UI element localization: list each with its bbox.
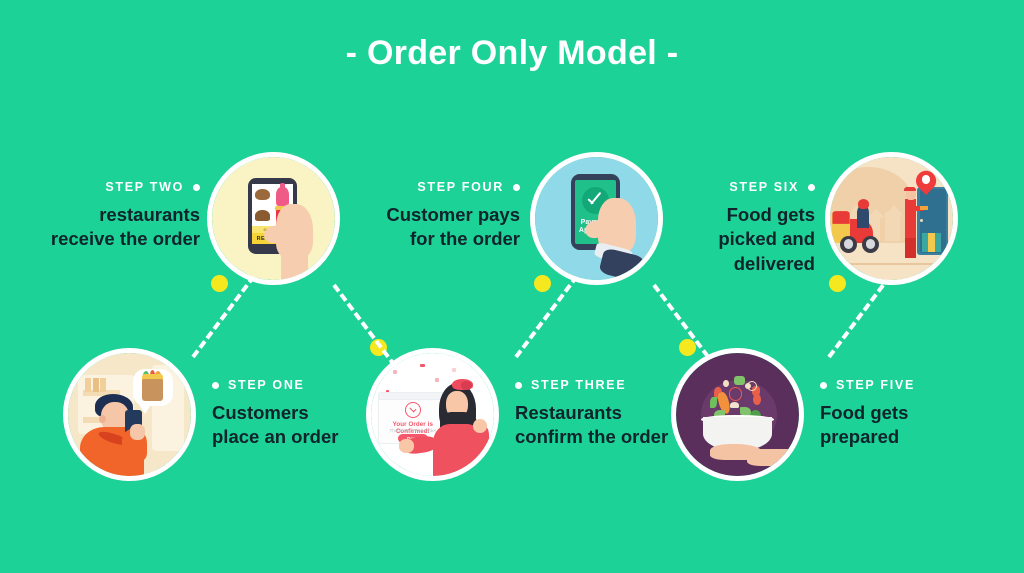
step-five-text: STEP FIVE Food gets prepared	[820, 378, 1010, 450]
step-three-label: STEP THREE	[531, 378, 626, 392]
step-five-illustration	[671, 348, 804, 481]
step-five-description: Food gets prepared	[820, 401, 1010, 450]
step-bullet-icon	[808, 184, 815, 191]
step-six-label: STEP SIX	[729, 180, 799, 194]
step-five-label: STEP FIVE	[836, 378, 915, 392]
step-five-label-row: STEP FIVE	[820, 378, 1010, 392]
step-bullet-icon	[513, 184, 520, 191]
step-one-illustration	[63, 348, 196, 481]
step-one-label: STEP ONE	[228, 378, 305, 392]
step-four-label: STEP FOUR	[417, 180, 504, 194]
step-four-text: STEP FOUR Customer pays for the order	[330, 180, 520, 252]
step-four-description: Customer pays for the order	[330, 203, 520, 252]
step-two-label: STEP TWO	[105, 180, 184, 194]
step-bullet-icon	[212, 382, 219, 389]
step-six-label-row: STEP SIX	[625, 180, 815, 194]
step-two-text: STEP TWO restaurants receive the order	[10, 180, 200, 252]
step-four-label-row: STEP FOUR	[330, 180, 520, 194]
step-six-description: Food gets picked and delivered	[625, 203, 815, 276]
step-three-illustration: Your Order is Confirmed! Thanks For Your…	[366, 348, 499, 481]
infographic-canvas: - Order Only Model - ORDER RECEIVED	[0, 0, 1024, 573]
page-title: - Order Only Model -	[0, 34, 1024, 73]
step-two-label-row: STEP TWO	[10, 180, 200, 194]
step-two-illustration: ORDER RECEIVED	[207, 152, 340, 285]
step-six-illustration	[825, 152, 958, 285]
step-bullet-icon	[193, 184, 200, 191]
step-bullet-icon	[515, 382, 522, 389]
step-six-text: STEP SIX Food gets picked and delivered	[625, 180, 815, 276]
step-two-description: restaurants receive the order	[10, 203, 200, 252]
step-bullet-icon	[820, 382, 827, 389]
